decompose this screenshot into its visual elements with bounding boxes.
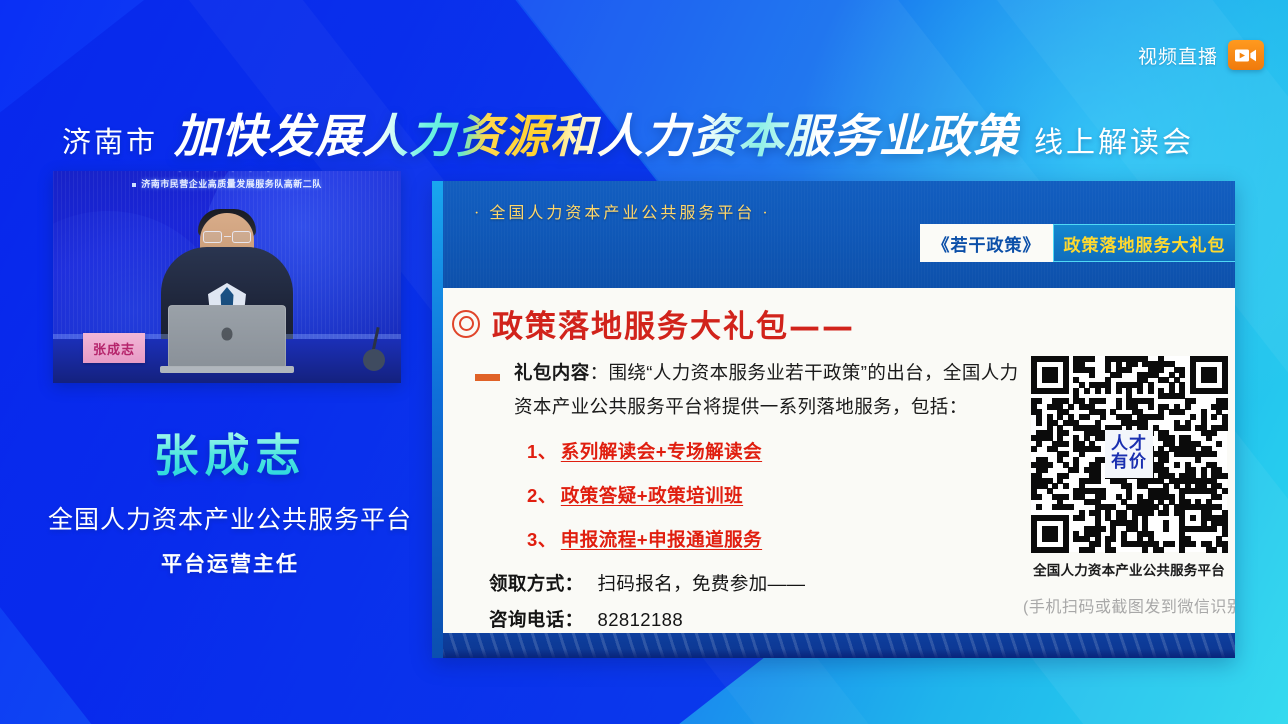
list-item-number: 3、: [527, 526, 557, 552]
speaker-role: 平台运营主任: [40, 548, 420, 578]
tab-ruogan-zhengce[interactable]: 《若干政策》: [920, 224, 1053, 262]
speaker-nameplate: 张成志: [83, 333, 145, 363]
live-stream-badge[interactable]: 视频直播: [1138, 40, 1264, 70]
page-title: 济南市 加快发展人力资源和人力资本服务业政策 线上解读会: [62, 100, 1242, 162]
page-title-suffix: 线上解读会: [1034, 119, 1194, 161]
qr-logo-line2: 有价: [1111, 454, 1147, 472]
claim-method-value: 扫码报名，免费参加——: [598, 570, 806, 596]
laptop-base: [160, 366, 294, 373]
qr-code-note: (手机扫码或截图发到微信识别: [1023, 593, 1235, 617]
speaker-info: 张成志 全国人力资本产业公共服务平台 平台运营主任: [40, 430, 420, 578]
contact-phone-label: 咨询电话：: [489, 606, 584, 632]
list-item-number: 1、: [527, 438, 557, 464]
claim-method-row: 领取方式： 扫码报名，免费参加——: [475, 570, 1023, 596]
list-item-label: 政策答疑+政策培训班: [561, 482, 743, 508]
slide-content: 礼包内容：围绕“人力资本服务业若干政策”的出台，全国人力资本产业公共服务平台将提…: [475, 356, 1023, 642]
list-item-label: 系列解读会+专场解读会: [561, 438, 762, 464]
qr-code-caption: 全国人力资本产业公共服务平台: [1023, 559, 1235, 579]
laptop: [168, 305, 286, 367]
list-item: 1、 系列解读会+专场解读会: [527, 438, 1023, 464]
apple-logo-icon: [222, 327, 233, 340]
page-title-main: 加快发展人力资源和人力资本服务业政策: [174, 100, 1020, 166]
slide-brand-label: · 全国人力资本产业公共服务平台 ·: [474, 199, 771, 223]
gift-paragraph: 礼包内容：围绕“人力资本服务业若干政策”的出台，全国人力资本产业公共服务平台将提…: [514, 356, 1023, 424]
gift-paragraph-row: 礼包内容：围绕“人力资本服务业若干政策”的出台，全国人力资本产业公共服务平台将提…: [475, 356, 1023, 424]
presentation-slide[interactable]: · 全国人力资本产业公共服务平台 · 《若干政策》 政策落地服务大礼包 政策落地…: [432, 181, 1235, 658]
video-backdrop-ghost-text: ▪ ▪ ▪ ▪ ▪ ▪: [53, 171, 401, 176]
list-item: 3、 申报流程+申报通道服务: [527, 526, 1023, 552]
tab-zhengce-luodi-fuwu-dalibao[interactable]: 政策落地服务大礼包: [1053, 224, 1235, 262]
list-item: 2、 政策答疑+政策培训班: [527, 482, 1023, 508]
slide-title-text: 政策落地服务大礼包——: [492, 301, 855, 346]
video-camera-icon[interactable]: [1228, 40, 1264, 70]
video-backdrop-text-value: 济南市民营企业高质量发展服务队高新二队: [141, 179, 322, 189]
slide-footer: [443, 633, 1235, 658]
qr-code-block: 人才 有价 全国人力资本产业公共服务平台 (手机扫码或截图发到微信识别: [1023, 356, 1235, 617]
list-item-label: 申报流程+申报通道服务: [561, 526, 762, 552]
microphone-icon: [363, 349, 385, 371]
video-stream-panel[interactable]: ▪ ▪ ▪ ▪ ▪ ▪ 济南市民营企业高质量发展服务队高新二队 张成志: [53, 171, 401, 383]
speaker-organization: 全国人力资本产业公共服务平台: [40, 500, 420, 536]
gift-paragraph-label: 礼包内容: [514, 362, 590, 383]
slide-left-accent-bar: [432, 181, 443, 658]
qr-code-logo: 人才 有价: [1105, 430, 1153, 478]
slide-body: 政策落地服务大礼包—— 礼包内容：围绕“人力资本服务业若干政策”的出台，全国人力…: [443, 288, 1235, 633]
video-backdrop-text: 济南市民营企业高质量发展服务队高新二队: [53, 177, 401, 190]
gift-service-list: 1、 系列解读会+专场解读会 2、 政策答疑+政策培训班 3、 申报流程+申报通…: [475, 438, 1023, 552]
slide-tabs[interactable]: 《若干政策》 政策落地服务大礼包: [920, 224, 1235, 262]
contact-phone-row: 咨询电话： 82812188: [475, 606, 1023, 632]
dash-bullet-icon: [475, 374, 500, 381]
double-circle-icon: [452, 310, 480, 338]
qr-code-image: 人才 有价: [1031, 356, 1227, 552]
claim-method-label: 领取方式：: [489, 570, 584, 596]
list-item-number: 2、: [527, 482, 557, 508]
page-title-prefix: 济南市: [62, 119, 158, 161]
speaker-glasses: [203, 230, 251, 243]
contact-phone-value: 82812188: [598, 609, 684, 631]
live-stream-label: 视频直播: [1138, 42, 1218, 69]
speaker-name: 张成志: [40, 430, 420, 482]
slide-title: 政策落地服务大礼包——: [452, 301, 855, 346]
gift-paragraph-text: ：围绕“人力资本服务业若干政策”的出台，全国人力资本产业公共服务平台将提供一系列…: [514, 362, 1019, 417]
